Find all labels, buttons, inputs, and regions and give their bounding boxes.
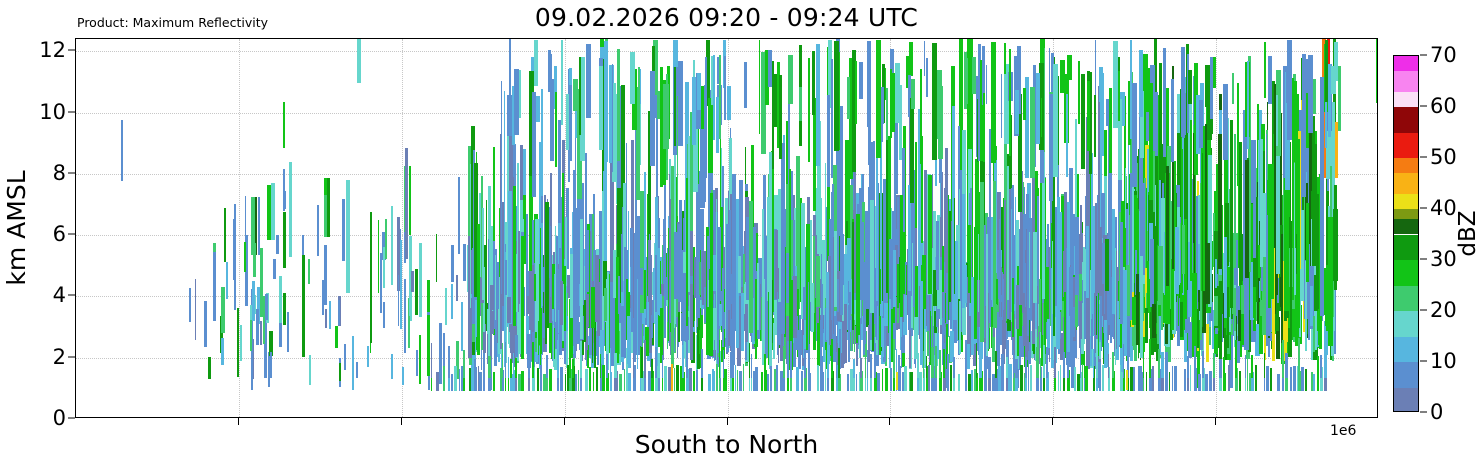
- y-tick-mark: [68, 50, 75, 51]
- reflectivity-cell: [1376, 39, 1378, 103]
- reflectivity-cell: [797, 289, 800, 315]
- reflectivity-cell: [1305, 369, 1307, 392]
- reflectivity-cell: [724, 56, 726, 120]
- reflectivity-cell: [946, 273, 947, 324]
- reflectivity-cell: [984, 369, 987, 392]
- reflectivity-cell: [357, 39, 361, 83]
- reflectivity-cell: [932, 43, 937, 160]
- reflectivity-cell: [1298, 338, 1300, 377]
- reflectivity-cell: [335, 326, 338, 348]
- reflectivity-cell: [415, 269, 417, 315]
- reflectivity-cell: [1023, 88, 1026, 119]
- colorbar-segment: [1394, 311, 1418, 337]
- reflectivity-cell: [546, 355, 547, 377]
- reflectivity-cell: [1036, 347, 1038, 378]
- reflectivity-cell: [555, 92, 557, 167]
- colorbar-segment: [1394, 56, 1418, 71]
- reflectivity-cell: [226, 262, 228, 298]
- reflectivity-cell: [224, 208, 227, 262]
- colorbar-segment: [1394, 362, 1418, 388]
- reflectivity-cell: [1078, 61, 1080, 124]
- reflectivity-cell: [1096, 296, 1098, 335]
- reflectivity-cell: [651, 359, 653, 378]
- reflectivity-cell: [1161, 246, 1163, 331]
- reflectivity-cell: [890, 69, 892, 138]
- colorbar-tick-mark: [1420, 412, 1427, 413]
- reflectivity-cell: [769, 152, 772, 369]
- reflectivity-cell: [459, 369, 461, 391]
- reflectivity-cell: [1192, 273, 1196, 357]
- reflectivity-cell: [567, 293, 569, 316]
- reflectivity-cell: [874, 343, 876, 378]
- reflectivity-cell: [1302, 97, 1305, 197]
- reflectivity-cell: [1292, 78, 1294, 138]
- reflectivity-cell: [514, 69, 519, 135]
- reflectivity-cell: [936, 221, 939, 290]
- reflectivity-cell: [564, 266, 566, 311]
- y-tick-label: 0: [53, 406, 66, 430]
- reflectivity-cell: [1247, 61, 1249, 149]
- reflectivity-cell: [593, 372, 594, 391]
- reflectivity-cell: [1049, 94, 1053, 200]
- reflectivity-cell: [398, 275, 399, 326]
- reflectivity-cell: [1245, 355, 1246, 378]
- reflectivity-cell: [338, 300, 340, 325]
- reflectivity-cell: [1235, 340, 1237, 378]
- reflectivity-cell: [1039, 279, 1041, 333]
- reflectivity-cell: [1143, 183, 1144, 274]
- reflectivity-cell: [958, 374, 960, 392]
- reflectivity-cell: [591, 287, 595, 329]
- reflectivity-cell: [532, 342, 534, 378]
- reflectivity-cell: [886, 88, 888, 140]
- reflectivity-cell: [1136, 274, 1139, 345]
- reflectivity-cell: [1161, 352, 1163, 378]
- reflectivity-cell: [827, 357, 829, 377]
- reflectivity-cell: [1276, 95, 1278, 146]
- reflectivity-cell: [787, 341, 789, 378]
- reflectivity-cell: [1171, 259, 1174, 330]
- reflectivity-cell: [983, 93, 985, 162]
- reflectivity-cell: [1066, 94, 1068, 178]
- reflectivity-cell: [634, 365, 636, 392]
- reflectivity-cell: [767, 374, 769, 392]
- reflectivity-cell: [493, 372, 495, 391]
- reflectivity-cell: [764, 354, 767, 378]
- reflectivity-cell: [233, 219, 236, 280]
- reflectivity-cell: [928, 175, 932, 294]
- reflectivity-cell: [880, 269, 881, 304]
- reflectivity-cell: [250, 320, 252, 351]
- reflectivity-cell: [728, 310, 730, 345]
- reflectivity-cell: [557, 340, 559, 377]
- reflectivity-cell: [1130, 40, 1133, 139]
- y-tick-mark: [68, 234, 75, 235]
- reflectivity-cell: [1157, 245, 1159, 300]
- colorbar-segment: [1394, 194, 1418, 209]
- reflectivity-cell: [870, 354, 872, 377]
- reflectivity-cell: [911, 79, 915, 109]
- reflectivity-cell: [252, 281, 255, 321]
- reflectivity-cell: [1053, 159, 1055, 336]
- reflectivity-cell: [367, 346, 369, 367]
- reflectivity-cell: [1199, 100, 1203, 149]
- reflectivity-cell: [1237, 83, 1239, 185]
- reflectivity-cell: [774, 369, 776, 392]
- reflectivity-cell: [798, 330, 801, 355]
- reflectivity-cell: [545, 312, 547, 344]
- reflectivity-cell: [705, 57, 707, 178]
- reflectivity-cell: [745, 304, 749, 342]
- reflectivity-cell: [456, 275, 458, 301]
- reflectivity-cell: [716, 364, 718, 391]
- reflectivity-cell: [560, 281, 563, 325]
- reflectivity-cell: [865, 344, 866, 377]
- colorbar-segment: [1394, 173, 1418, 193]
- reflectivity-cell: [565, 374, 567, 391]
- reflectivity-cell: [971, 370, 973, 391]
- reflectivity-cell: [1096, 339, 1098, 378]
- reflectivity-cell: [1223, 357, 1225, 377]
- reflectivity-cell: [1184, 369, 1186, 392]
- reflectivity-cell: [1206, 324, 1209, 362]
- colorbar-tick-mark: [1420, 259, 1427, 260]
- reflectivity-cell: [997, 312, 1000, 349]
- reflectivity-cell: [1239, 371, 1241, 391]
- reflectivity-cell: [1058, 371, 1059, 391]
- reflectivity-cell: [606, 354, 609, 378]
- reflectivity-cell: [1094, 95, 1096, 157]
- reflectivity-cell: [626, 348, 628, 377]
- colorbar-tick-mark: [1420, 310, 1427, 311]
- reflectivity-cell: [1223, 84, 1227, 161]
- reflectivity-cell: [825, 350, 826, 378]
- reflectivity-cell: [706, 307, 708, 354]
- reflectivity-cell: [404, 279, 406, 353]
- reflectivity-cell: [267, 185, 271, 240]
- reflectivity-cell: [847, 374, 850, 391]
- reflectivity-cell: [1318, 311, 1322, 345]
- reflectivity-cell: [521, 236, 524, 359]
- reflectivity-cell: [284, 102, 285, 116]
- reflectivity-cell: [427, 280, 430, 311]
- reflectivity-cell: [699, 262, 701, 294]
- reflectivity-cell: [896, 372, 898, 390]
- reflectivity-cell: [1308, 55, 1313, 133]
- reflectivity-cell: [1245, 160, 1248, 283]
- plot-area[interactable]: [75, 38, 1378, 418]
- reflectivity-cell: [496, 271, 500, 309]
- reflectivity-cell: [644, 340, 646, 378]
- reflectivity-cell: [610, 282, 613, 345]
- reflectivity-cell: [383, 302, 385, 328]
- reflectivity-cell: [1091, 153, 1093, 322]
- reflectivity-cell: [383, 247, 385, 288]
- y-tick-label: 12: [39, 38, 66, 62]
- reflectivity-cell: [405, 148, 408, 259]
- reflectivity-cell: [1041, 98, 1043, 138]
- reflectivity-cell: [1313, 374, 1315, 392]
- reflectivity-cell: [833, 237, 834, 335]
- reflectivity-cell: [549, 369, 552, 391]
- reflectivity-cell: [995, 351, 997, 377]
- reflectivity-cell: [448, 346, 450, 378]
- reflectivity-cell: [657, 248, 660, 315]
- reflectivity-cell: [1277, 374, 1280, 391]
- reflectivity-cell: [757, 263, 759, 330]
- reflectivity-cell: [881, 87, 884, 124]
- reflectivity-cell: [708, 374, 711, 391]
- x-axis-offset-label: 1e6: [1330, 423, 1356, 439]
- reflectivity-cell: [1033, 232, 1037, 303]
- reflectivity-cell: [221, 338, 224, 365]
- reflectivity-cell: [352, 336, 354, 390]
- reflectivity-cell: [910, 98, 914, 203]
- reflectivity-cell: [618, 276, 620, 314]
- reflectivity-cell: [1293, 366, 1295, 391]
- reflectivity-cell: [801, 371, 803, 391]
- reflectivity-cell: [838, 348, 840, 378]
- reflectivity-cell: [1175, 227, 1179, 294]
- reflectivity-cell: [586, 44, 591, 118]
- reflectivity-cell: [1251, 355, 1253, 378]
- reflectivity-cell: [342, 199, 345, 261]
- reflectivity-cell: [678, 224, 681, 303]
- reflectivity-cell: [1227, 287, 1228, 347]
- reflectivity-cell: [279, 276, 282, 325]
- reflectivity-cell: [741, 293, 744, 350]
- reflectivity-cell: [1102, 73, 1104, 156]
- reflectivity-cell: [719, 55, 721, 139]
- reflectivity-cell: [816, 44, 820, 166]
- colorbar-tick-label: 0: [1430, 400, 1443, 424]
- reflectivity-cell: [1169, 372, 1170, 391]
- reflectivity-cell: [831, 339, 834, 377]
- x-tick-mark: [889, 418, 890, 425]
- reflectivity-cell: [515, 358, 517, 377]
- reflectivity-cell: [1190, 120, 1192, 281]
- reflectivity-cell: [1325, 40, 1328, 101]
- reflectivity-cell: [616, 94, 618, 204]
- reflectivity-cell: [812, 51, 814, 115]
- reflectivity-cell: [1210, 57, 1213, 119]
- reflectivity-cell: [720, 351, 721, 377]
- reflectivity-cell: [1290, 367, 1292, 391]
- reflectivity-cell: [1234, 134, 1236, 267]
- reflectivity-cell: [844, 304, 847, 363]
- reflectivity-cell: [749, 343, 750, 377]
- reflectivity-cell: [1255, 365, 1257, 391]
- reflectivity-cell: [935, 346, 937, 378]
- colorbar-title: dBZ: [1455, 55, 1481, 412]
- reflectivity-cell: [630, 52, 635, 104]
- reflectivity-cell: [621, 306, 624, 358]
- reflectivity-cell: [938, 86, 943, 159]
- reflectivity-cell: [727, 86, 732, 120]
- reflectivity-cell: [836, 352, 838, 377]
- reflectivity-cell: [882, 369, 884, 392]
- colorbar-tick-mark: [1420, 55, 1427, 56]
- reflectivity-cell: [738, 256, 741, 293]
- reflectivity-cell: [327, 178, 330, 236]
- reflectivity-cell: [1008, 364, 1011, 391]
- colorbar[interactable]: 010203040506070: [1393, 55, 1419, 412]
- reflectivity-cell: [928, 365, 930, 392]
- reflectivity-cell: [317, 205, 319, 256]
- reflectivity-cell: [1040, 358, 1041, 377]
- colorbar-segment: [1394, 92, 1418, 107]
- reflectivity-cell: [507, 297, 511, 323]
- colorbar-tick-label: 10: [1430, 349, 1457, 373]
- reflectivity-cell: [1015, 197, 1016, 319]
- reflectivity-cell: [1028, 351, 1029, 378]
- reflectivity-cell: [1093, 349, 1095, 378]
- reflectivity-cell: [504, 91, 506, 295]
- reflectivity-cell: [482, 208, 484, 300]
- reflectivity-cell: [943, 349, 945, 378]
- reflectivity-cell: [1270, 368, 1272, 392]
- reflectivity-cell: [692, 77, 696, 145]
- reflectivity-cell: [391, 354, 393, 379]
- reflectivity-cell: [1030, 87, 1035, 178]
- reflectivity-cell: [263, 296, 265, 344]
- reflectivity-cell: [1174, 366, 1177, 391]
- reflectivity-cell: [543, 374, 545, 392]
- reflectivity-cell: [903, 232, 905, 294]
- reflectivity-cell: [451, 374, 453, 392]
- reflectivity-cell: [1331, 66, 1336, 95]
- reflectivity-cell: [770, 366, 772, 392]
- reflectivity-cell: [1224, 237, 1227, 318]
- reflectivity-cell: [732, 359, 733, 378]
- reflectivity-cell: [1095, 40, 1096, 96]
- reflectivity-cell: [686, 178, 688, 326]
- reflectivity-cell: [532, 265, 534, 332]
- colorbar-segment: [1394, 133, 1418, 159]
- reflectivity-cell: [569, 342, 571, 378]
- reflectivity-cell: [451, 284, 453, 319]
- reflectivity-cell: [658, 353, 659, 378]
- reflectivity-cell: [1270, 189, 1274, 299]
- reflectivity-cell: [273, 259, 276, 279]
- reflectivity-cell: [253, 243, 256, 277]
- reflectivity-cell: [1080, 205, 1083, 339]
- reflectivity-cell: [1123, 344, 1125, 378]
- reflectivity-cell: [827, 95, 831, 186]
- reflectivity-cell: [837, 279, 839, 312]
- reflectivity-cell: [573, 79, 578, 111]
- reflectivity-cell: [283, 212, 285, 268]
- reflectivity-cell: [1205, 374, 1208, 391]
- reflectivity-cell: [1158, 349, 1160, 378]
- reflectivity-cell: [1194, 346, 1197, 378]
- reflectivity-cell: [324, 178, 327, 195]
- reflectivity-cell: [416, 350, 418, 376]
- reflectivity-cell: [788, 55, 793, 104]
- reflectivity-cell: [817, 365, 819, 391]
- reflectivity-cell: [575, 374, 577, 391]
- colorbar-segment: [1394, 388, 1418, 413]
- reflectivity-cell: [1264, 353, 1265, 378]
- reflectivity-cell: [1047, 319, 1050, 348]
- reflectivity-cell: [1306, 203, 1309, 283]
- reflectivity-cell: [385, 219, 387, 259]
- reflectivity-cell: [560, 367, 562, 391]
- reflectivity-cell: [1219, 281, 1222, 362]
- reflectivity-cell: [1063, 352, 1065, 378]
- reflectivity-cell: [469, 368, 471, 391]
- reflectivity-cell: [1266, 134, 1268, 315]
- reflectivity-cell: [541, 223, 543, 305]
- reflectivity-cell: [1320, 241, 1324, 316]
- reflectivity-cell: [644, 270, 646, 308]
- reflectivity-cell: [540, 365, 541, 392]
- reflectivity-cell: [724, 289, 725, 312]
- reflectivity-cell: [969, 316, 971, 357]
- reflectivity-cell: [991, 42, 996, 162]
- reflectivity-cell: [537, 368, 539, 391]
- reflectivity-cell: [1140, 256, 1142, 357]
- reflectivity-cell: [1333, 209, 1338, 281]
- y-tick-mark: [68, 172, 75, 173]
- reflectivity-cell: [463, 350, 465, 377]
- reflectivity-cell: [847, 77, 850, 119]
- reflectivity-cell: [600, 354, 602, 378]
- reflectivity-cell: [737, 370, 738, 391]
- reflectivity-cell: [510, 359, 512, 378]
- reflectivity-cell: [445, 288, 447, 325]
- reflectivity-cell: [790, 341, 792, 377]
- colorbar-tick-mark: [1420, 208, 1427, 209]
- reflectivity-cell: [651, 315, 653, 338]
- reflectivity-cell: [724, 369, 726, 392]
- reflectivity-cell: [1004, 200, 1006, 349]
- reflectivity-cell: [920, 69, 922, 164]
- reflectivity-cell: [1013, 350, 1014, 378]
- reflectivity-cell: [283, 293, 286, 326]
- reflectivity-cell: [1198, 374, 1200, 391]
- colorbar-segment: [1394, 107, 1418, 133]
- reflectivity-cell: [662, 355, 663, 378]
- reflectivity-cell: [1030, 365, 1031, 392]
- reflectivity-cell: [409, 166, 411, 235]
- reflectivity-cell: [1067, 352, 1069, 378]
- reflectivity-cell: [528, 340, 530, 378]
- reflectivity-cell: [458, 177, 460, 254]
- reflectivity-cell: [1310, 286, 1313, 326]
- reflectivity-cell: [1046, 347, 1048, 378]
- reflectivity-cell: [1268, 56, 1272, 104]
- reflectivity-cell: [240, 325, 243, 360]
- product-label: Product: Maximum Reflectivity: [77, 15, 268, 30]
- reflectivity-cell: [1120, 222, 1124, 324]
- reflectivity-cell: [749, 201, 752, 333]
- colorbar-tick-mark: [1420, 361, 1427, 362]
- reflectivity-cell: [1214, 296, 1218, 327]
- reflectivity-cell: [1146, 372, 1147, 391]
- reflectivity-cell: [1145, 68, 1150, 112]
- reflectivity-cell: [1209, 371, 1212, 392]
- reflectivity-cell: [1165, 352, 1168, 378]
- reflectivity-cell: [775, 230, 778, 292]
- reflectivity-cell: [682, 345, 684, 377]
- colorbar-tick-mark: [1420, 106, 1427, 107]
- reflectivity-cell: [1180, 302, 1183, 337]
- reflectivity-cell: [789, 169, 791, 362]
- reflectivity-cell: [1230, 120, 1233, 308]
- y-tick-label: 4: [53, 283, 66, 307]
- reflectivity-cell: [853, 359, 855, 378]
